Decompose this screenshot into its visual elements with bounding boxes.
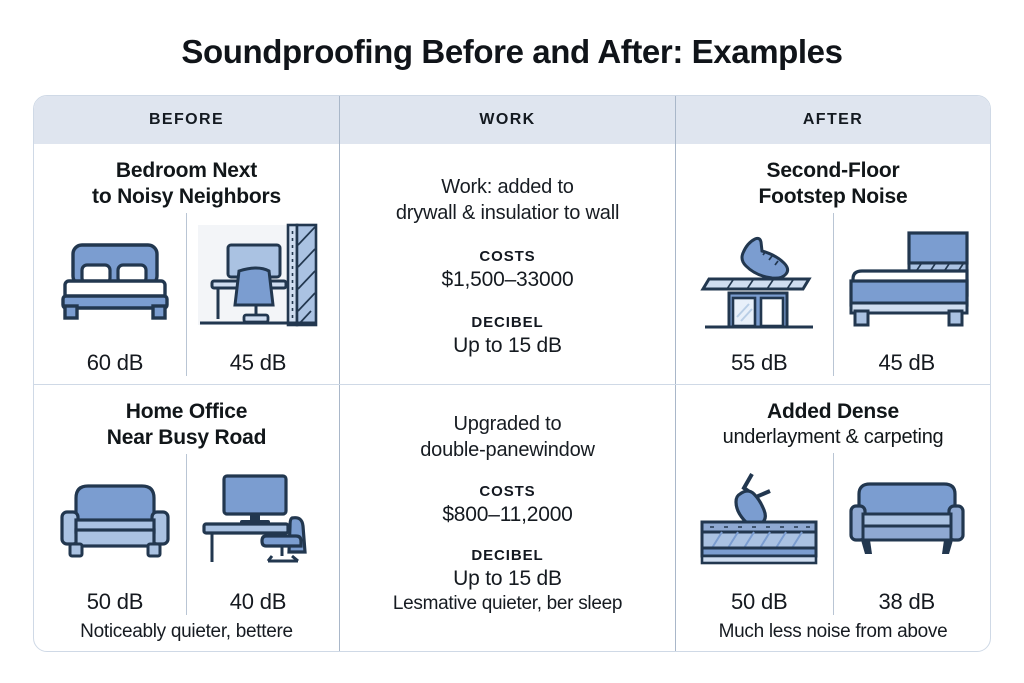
icon-pair: 60 dB (44, 213, 329, 376)
table-body: Bedroom Next to Noisy Neighbors (34, 144, 990, 651)
icon-half-right: 45 dB (833, 213, 981, 376)
armchair-icon (44, 454, 186, 583)
bed-front-icon (44, 213, 186, 344)
table-header-row: BEFORE WORK AFTER (34, 96, 990, 144)
cell-before-row1: Bedroom Next to Noisy Neighbors (34, 144, 339, 384)
column-header-work: WORK (339, 96, 675, 144)
cell-footnote: Much less noise from above (686, 621, 980, 643)
icon-half-left: 50 dB (44, 454, 186, 615)
cell-before-row2: Home Office Near Busy Road (34, 385, 339, 651)
case-title: Bedroom Next to Noisy Neighbors (92, 158, 281, 209)
foot-on-carpet-layers-icon (686, 453, 833, 583)
costs-label: COSTS (479, 483, 535, 500)
costs-value: $1,500–33000 (442, 268, 574, 292)
case-title-line1: Bedroom Next (116, 159, 257, 182)
icon-pair: 50 dB (44, 454, 329, 615)
icon-half-right: 38 dB (833, 453, 981, 615)
decibel-label: DECIBEL (471, 314, 543, 331)
db-value-left: 50 dB (87, 589, 144, 615)
case-title-line1: Home Office (126, 400, 248, 423)
cell-after-row1: Second-Floor Footstep Noise (675, 144, 990, 384)
case-title-line2: Footstep Noise (759, 185, 908, 208)
infographic-page: Soundproofing Before and After: Examples… (0, 0, 1024, 683)
cell-footnote: Lesmative quieter, ber sleep (393, 593, 622, 615)
cell-work-row2: Upgraded to double-panewindow COSTS $800… (339, 385, 675, 651)
icon-half-right: 45 dB (186, 213, 329, 376)
column-header-after: AFTER (675, 96, 990, 144)
db-value-left: 55 dB (731, 350, 788, 376)
desk-wall-insulation-icon (187, 213, 329, 344)
costs-label: COSTS (479, 248, 535, 265)
table-row: Bedroom Next to Noisy Neighbors (34, 144, 990, 384)
work-description: Upgraded to double-panewindow (420, 411, 595, 463)
db-value-right: 40 dB (230, 589, 287, 615)
decibel-value: Up to 15 dB (453, 567, 562, 591)
work-desc-line1: Work: added to (441, 176, 573, 198)
db-value-right: 45 dB (230, 350, 287, 376)
cell-footnote: Noticeably quieter, bettere (44, 621, 329, 643)
decibel-value: Up to 15 dB (453, 334, 562, 358)
cell-after-row2: Added Dense underlayment & carpeting (675, 385, 990, 651)
case-title-line2: to Noisy Neighbors (92, 185, 281, 208)
work-description: Work: added to drywall & insulatior to w… (396, 174, 619, 226)
bed-side-icon (834, 213, 981, 344)
db-value-left: 60 dB (87, 350, 144, 376)
icon-half-left: 50 dB (686, 453, 833, 615)
shoe-above-floor-icon (686, 213, 833, 344)
icon-pair: 50 dB (686, 453, 980, 615)
case-title: Added Dense underlayment & carpeting (723, 399, 944, 449)
desk-monitor-chair-icon (187, 454, 329, 583)
work-desc-line1: Upgraded to (454, 413, 562, 435)
icon-half-left: 55 dB (686, 213, 833, 376)
work-desc-line2: double-panewindow (420, 439, 595, 461)
icon-pair: 55 dB (686, 213, 980, 376)
costs-value: $800–11,2000 (442, 503, 572, 527)
db-value-right: 45 dB (879, 350, 936, 376)
decibel-label: DECIBEL (471, 547, 543, 564)
db-value-right: 38 dB (879, 589, 936, 615)
work-desc-line2: drywall & insulatior to wall (396, 202, 619, 224)
column-header-before: BEFORE (34, 96, 339, 144)
db-value-left: 50 dB (731, 589, 788, 615)
icon-half-left: 60 dB (44, 213, 186, 376)
page-title: Soundproofing Before and After: Examples (0, 0, 1024, 71)
case-title: Home Office Near Busy Road (107, 399, 266, 450)
case-title-line1: Second-Floor (767, 159, 900, 182)
comparison-table: BEFORE WORK AFTER Bedroom Next to Noisy … (33, 95, 991, 652)
case-title: Second-Floor Footstep Noise (759, 158, 908, 209)
table-row: Home Office Near Busy Road (34, 384, 990, 651)
icon-half-right: 40 dB (186, 454, 329, 615)
sofa-icon (834, 453, 981, 583)
case-title-sub: underlayment & carpeting (723, 425, 944, 449)
case-title-line2: Near Busy Road (107, 426, 266, 449)
case-title-strong: Added Dense (723, 399, 944, 425)
cell-work-row1: Work: added to drywall & insulatior to w… (339, 144, 675, 384)
